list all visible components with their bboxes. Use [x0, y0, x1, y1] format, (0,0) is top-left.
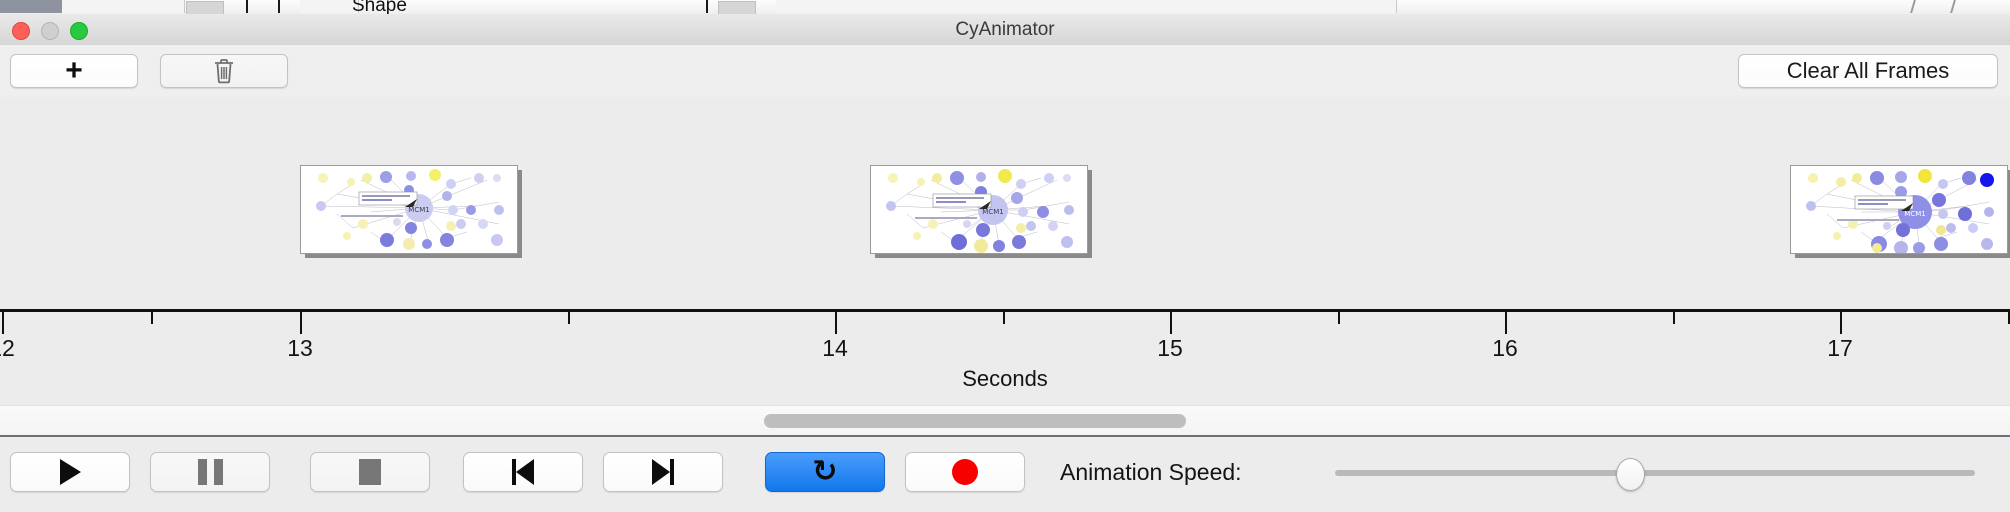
background-cell	[186, 1, 224, 15]
scrollbar-thumb[interactable]	[764, 414, 1186, 428]
frame-thumbnail[interactable]: MCM1	[300, 165, 522, 257]
axis-tick-label: 17	[1827, 335, 1853, 362]
svg-text:MCM1: MCM1	[1904, 210, 1925, 218]
toolbar: + Clear All Frames	[0, 45, 2010, 99]
play-icon	[60, 459, 81, 485]
axis-tick-minor	[1338, 312, 1340, 324]
axis-tick-major	[1840, 312, 1842, 334]
animation-speed-label: Animation Speed:	[1060, 452, 1242, 492]
title-bar[interactable]: CyAnimator	[0, 14, 2010, 46]
skip-forward-icon	[652, 459, 674, 485]
record-button[interactable]	[905, 452, 1025, 492]
axis-tick-minor	[1673, 312, 1675, 324]
loop-icon: ↻	[812, 457, 837, 487]
record-icon	[952, 459, 978, 485]
background-tab	[0, 0, 62, 13]
skip-forward-button[interactable]	[603, 452, 723, 492]
svg-text:MCM1: MCM1	[408, 206, 429, 214]
skip-back-icon	[512, 459, 534, 485]
loop-button[interactable]: ↻	[765, 452, 885, 492]
axis-tick-major	[835, 312, 837, 334]
stop-icon	[359, 459, 381, 485]
axis-title: Seconds	[0, 366, 2010, 392]
axis-tick-major	[300, 312, 302, 334]
network-graph: MCM1	[301, 166, 517, 253]
playback-controls: ↻ Animation Speed:	[0, 435, 2010, 512]
background-divider	[278, 0, 280, 13]
timeline-canvas[interactable]: MCM1	[0, 97, 2010, 309]
background-divider	[1910, 0, 1942, 13]
pause-icon	[198, 459, 223, 485]
axis-tick-minor	[2008, 312, 2010, 324]
network-graph: MCM1	[1791, 166, 2007, 253]
background-cell	[300, 0, 359, 13]
horizontal-scrollbar[interactable]	[0, 405, 2010, 436]
axis-tick-label: 12	[0, 335, 15, 362]
window-title: CyAnimator	[0, 14, 2010, 45]
frame-thumbnail[interactable]: MCM1	[1790, 165, 2010, 257]
add-frame-button[interactable]: +	[10, 54, 138, 88]
axis-tick-major	[2, 312, 4, 334]
axis-tick-minor	[151, 312, 153, 324]
trash-icon	[213, 58, 235, 84]
pause-button[interactable]	[150, 452, 270, 492]
stop-button[interactable]	[310, 452, 430, 492]
background-cell	[136, 0, 185, 13]
background-window-label: Shape	[352, 0, 407, 15]
background-window-sliver: Shape	[0, 0, 2010, 15]
play-button[interactable]	[10, 452, 130, 492]
thumbnail-image: MCM1	[300, 165, 518, 254]
frame-thumbnail[interactable]: MCM1	[870, 165, 1092, 257]
axis-tick-label: 13	[287, 335, 313, 362]
animation-speed-slider[interactable]	[1335, 452, 1975, 492]
slider-rail	[1335, 470, 1975, 476]
skip-back-button[interactable]	[463, 452, 583, 492]
svg-text:MCM1: MCM1	[982, 208, 1003, 216]
background-cell	[62, 0, 137, 13]
axis-tick-label: 14	[822, 335, 848, 362]
background-divider	[706, 0, 708, 13]
network-graph: MCM1	[871, 166, 1087, 253]
axis-tick-minor	[568, 312, 570, 324]
slider-knob[interactable]	[1616, 458, 1645, 491]
timeline-ruler[interactable]: 12131415161718 Seconds	[0, 309, 2010, 405]
axis-tick-label: 16	[1492, 335, 1518, 362]
axis-tick-label: 15	[1157, 335, 1183, 362]
background-cell	[718, 1, 756, 15]
delete-frame-button[interactable]	[160, 54, 288, 88]
background-cell	[776, 0, 1397, 13]
axis-tick-major	[1505, 312, 1507, 334]
cyanimator-window: Shape CyAnimator + Clear All Frames	[0, 0, 2010, 510]
clear-all-frames-button[interactable]: Clear All Frames	[1738, 54, 1998, 88]
axis-tick-major	[1170, 312, 1172, 334]
axis-tick-minor	[1003, 312, 1005, 324]
thumbnail-image: MCM1	[870, 165, 1088, 254]
background-divider	[1950, 0, 1982, 13]
thumbnail-image: MCM1	[1790, 165, 2008, 254]
background-divider	[246, 0, 248, 13]
